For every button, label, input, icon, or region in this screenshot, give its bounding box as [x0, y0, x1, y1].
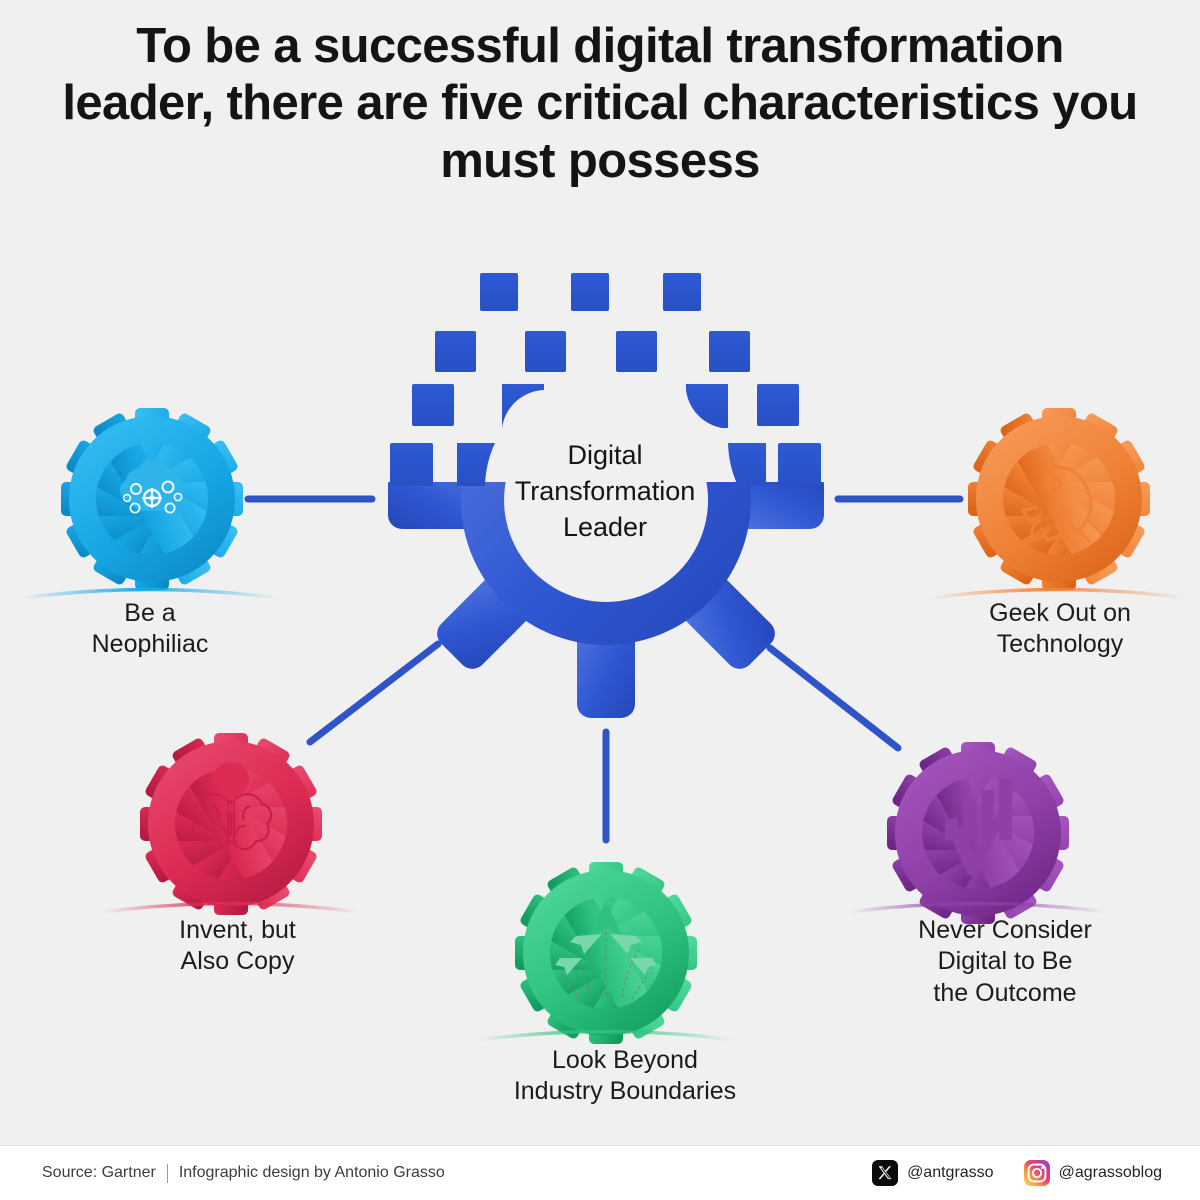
- node-gear-never-consider[interactable]: [850, 742, 1106, 924]
- footer-source-text: Source: Gartner: [42, 1164, 156, 1182]
- social-handle-instagram: @agrassoblog: [1059, 1164, 1162, 1182]
- instagram-icon: [1024, 1160, 1050, 1186]
- gear-ring-purple: [887, 742, 1069, 924]
- shelf-cyan: [22, 590, 278, 599]
- social-link-instagram[interactable]: @agrassoblog: [1024, 1160, 1162, 1186]
- footer-social-links: @antgrasso: [872, 1160, 1162, 1186]
- shelf-orange: [930, 590, 1186, 599]
- connector-bottom-left: [310, 644, 438, 742]
- node-label-neophiliac: Be a Neophiliac: [25, 598, 275, 661]
- infographic-page: To be a successful digital transformatio…: [0, 0, 1200, 1200]
- social-link-x[interactable]: @antgrasso: [872, 1160, 994, 1186]
- connector-bottom-right: [770, 648, 898, 748]
- node-label-never-consider: Never Consider Digital to Be the Outcome: [855, 915, 1155, 1009]
- gear-ring-orange: [968, 408, 1150, 590]
- footer-divider: [167, 1164, 168, 1183]
- node-label-look-beyond: Look Beyond Industry Boundaries: [455, 1045, 795, 1108]
- footer-bar: Source: Gartner Infographic design by An…: [0, 1145, 1200, 1200]
- node-gear-geek-out[interactable]: [930, 408, 1186, 598]
- node-gear-invent-copy[interactable]: [103, 733, 359, 915]
- footer-design-text: Infographic design by Antonio Grasso: [179, 1164, 445, 1182]
- social-handle-x: @antgrasso: [907, 1164, 994, 1182]
- node-label-invent-copy: Invent, but Also Copy: [110, 915, 365, 978]
- node-gear-neophiliac[interactable]: [22, 408, 278, 598]
- node-label-geek-out: Geek Out on Technology: [930, 598, 1190, 661]
- footer-credit: Source: Gartner Infographic design by An…: [42, 1164, 445, 1183]
- diagram-stage: Digital Transformation Leader Be a Neoph…: [0, 0, 1200, 1145]
- x-twitter-icon: [872, 1160, 898, 1186]
- center-node-label: Digital Transformation Leader: [490, 438, 720, 546]
- node-gear-look-beyond[interactable]: [478, 862, 734, 1044]
